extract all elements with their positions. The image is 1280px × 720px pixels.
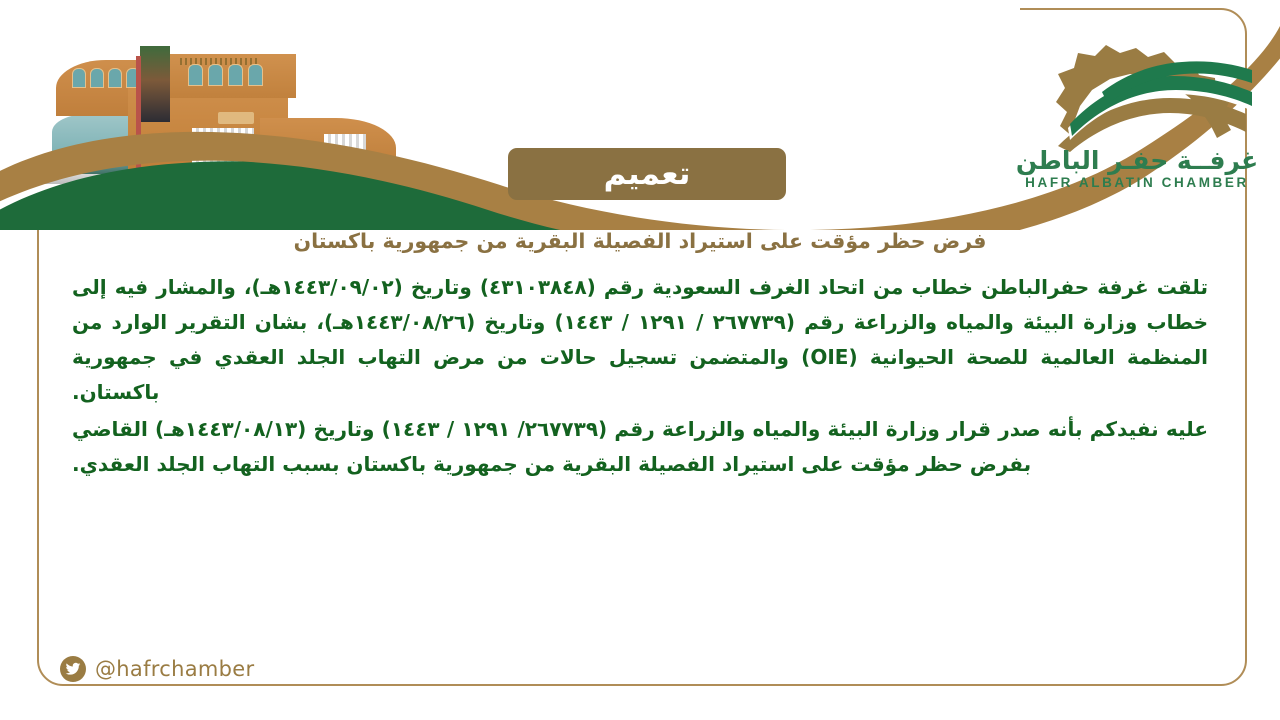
building-plant (332, 158, 346, 174)
document-content: فرض حظر مؤقت على استيراد الفصيلة البقرية… (60, 228, 1220, 484)
social-handle[interactable]: @hafrchamber (60, 656, 254, 682)
document-title: فرض حظر مؤقت على استيراد الفصيلة البقرية… (60, 228, 1220, 256)
circular-page: غرفــة حفـر الباطن HAFR ALBATIN CHAMBER … (0, 0, 1280, 720)
chamber-logo: غرفــة حفـر الباطن HAFR ALBATIN CHAMBER (1012, 40, 1262, 210)
building-window (90, 68, 104, 88)
building-flagpole (136, 56, 141, 180)
document-paragraph: تلقت غرفة حفرالباطن خطاب من اتحاد الغرف … (72, 270, 1208, 410)
building-ground (32, 174, 422, 184)
building-window (188, 64, 203, 86)
building-banner (140, 46, 170, 122)
logo-english-name: HAFR ALBATIN CHAMBER (1012, 175, 1262, 191)
building-illustration (32, 30, 422, 182)
building-window (108, 68, 122, 88)
document-paragraph: عليه نفيدكم بأنه صدر قرار وزارة البيئة و… (72, 412, 1208, 482)
chamber-gear-logo-icon (1012, 40, 1262, 152)
twitter-handle-text[interactable]: @hafrchamber (95, 657, 254, 681)
twitter-icon[interactable] (60, 656, 86, 682)
document-body: تلقت غرفة حفرالباطن خطاب من اتحاد الغرف … (60, 270, 1220, 482)
building-window (72, 68, 86, 88)
circular-type-badge: تعميم (508, 148, 786, 200)
logo-arabic-name: غرفــة حفـر الباطن (1012, 148, 1262, 174)
building-window (248, 64, 263, 86)
building-colonnade (192, 128, 254, 180)
building-photo (10, 12, 430, 194)
building-entrance-sign (218, 112, 254, 124)
building-window (208, 64, 223, 86)
building-window (228, 64, 243, 86)
